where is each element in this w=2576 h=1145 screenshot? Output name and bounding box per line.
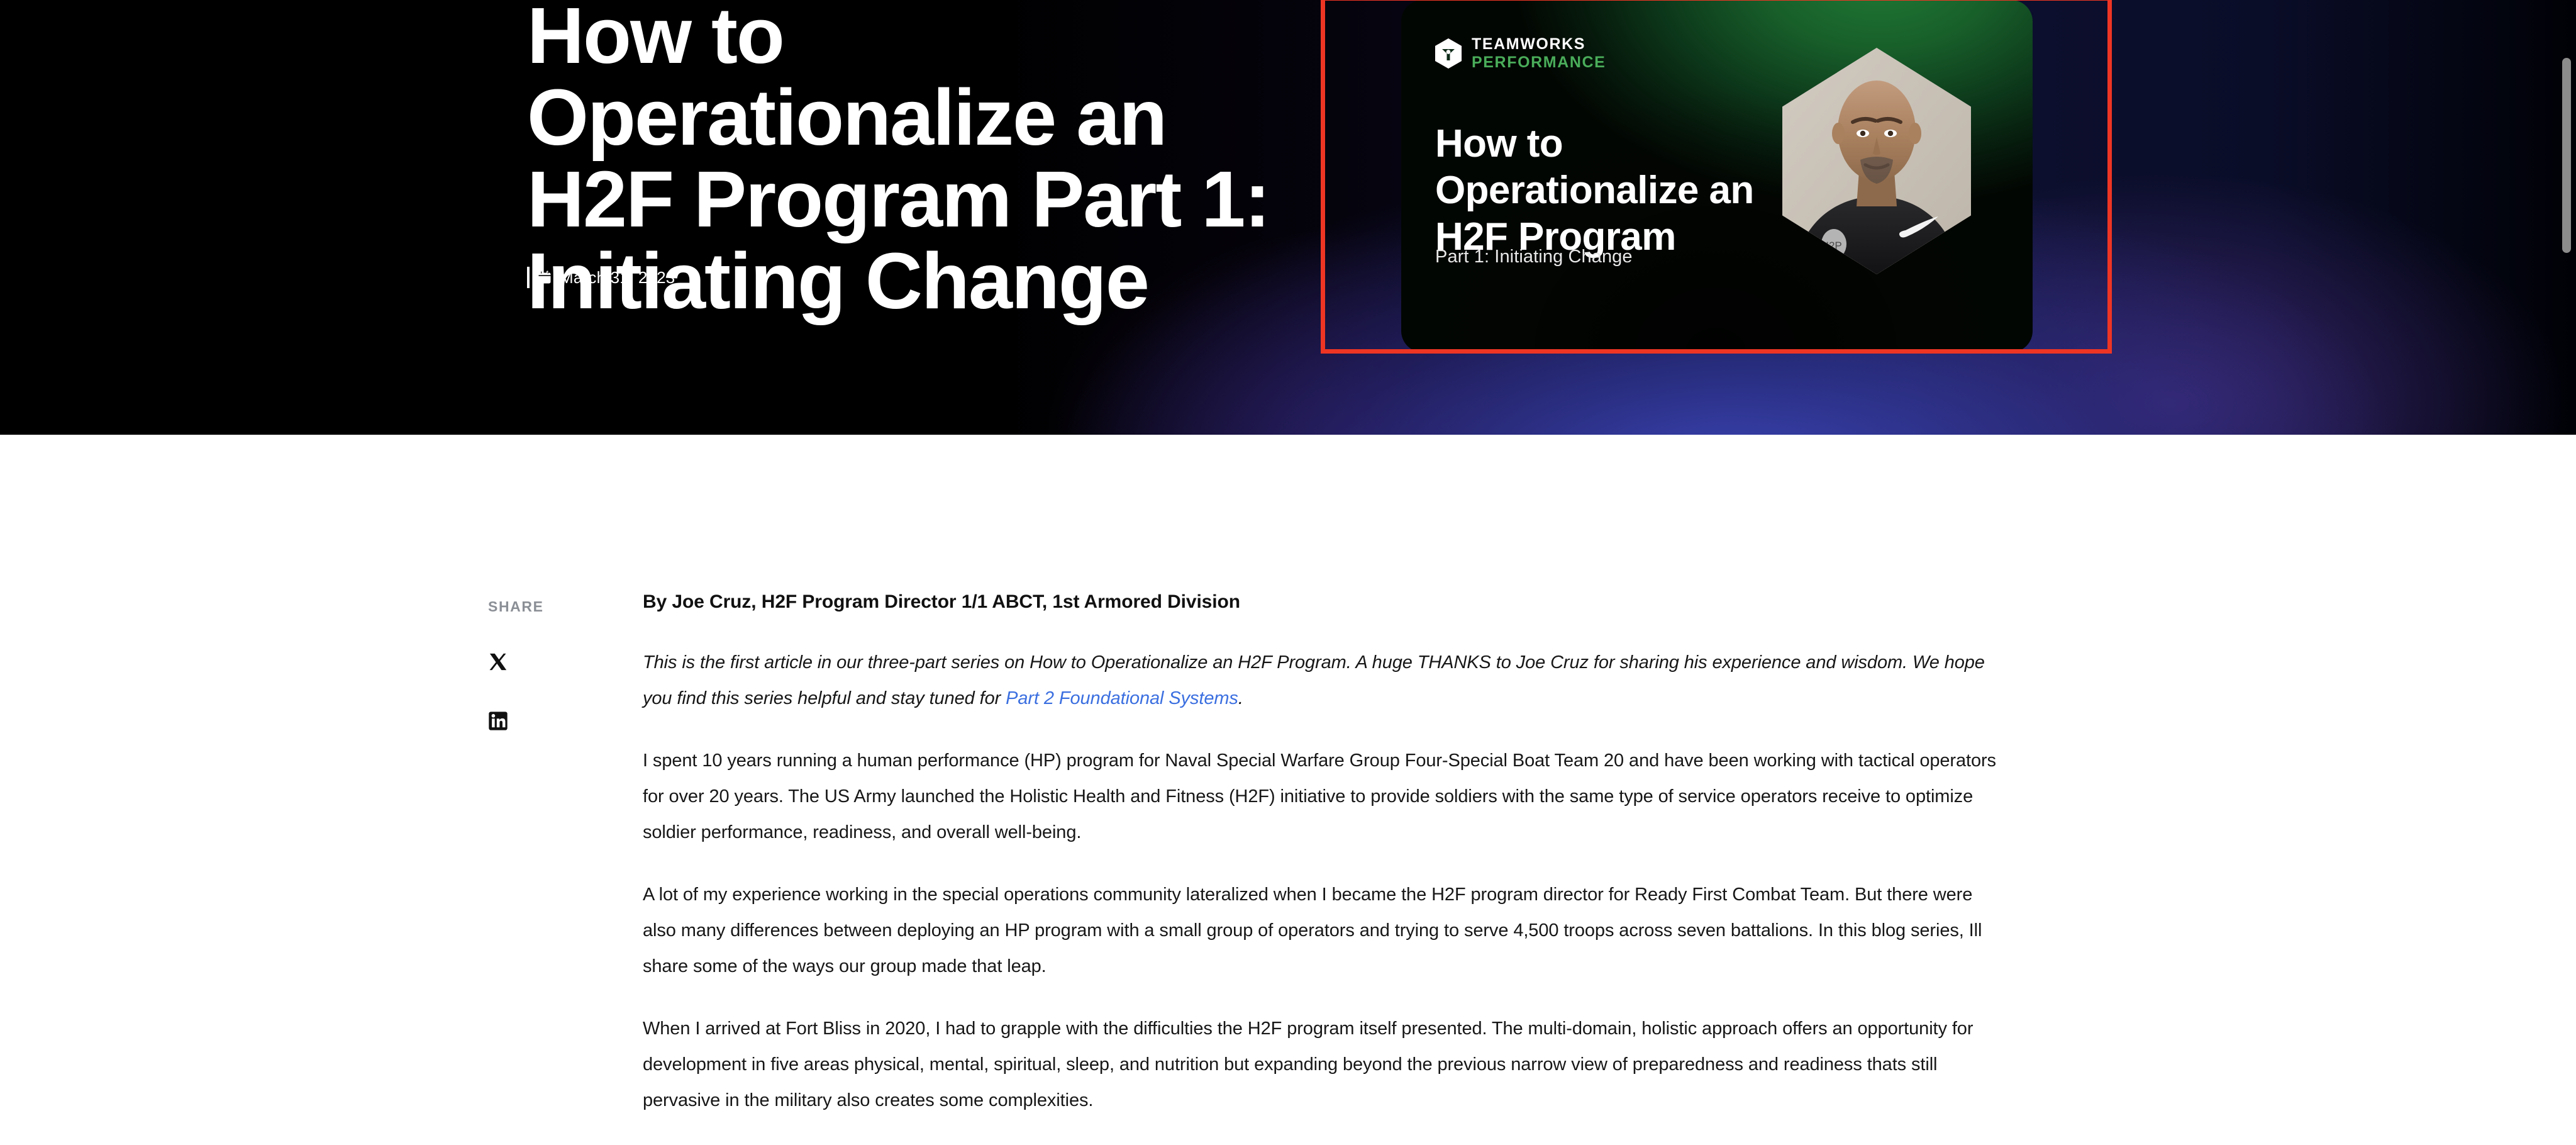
teamworks-logo: TEAMWORKS PERFORMANCE (1435, 36, 1606, 70)
x-twitter-icon[interactable] (488, 652, 508, 672)
share-label: SHARE (488, 598, 589, 615)
page-scrollbar[interactable] (2553, 0, 2576, 1119)
part-2-link[interactable]: Part 2 Foundational Systems (1006, 688, 1238, 708)
calendar-icon (537, 270, 552, 285)
logo-wordmark: TEAMWORKS PERFORMANCE (1472, 36, 1606, 70)
hero-feature-card: TEAMWORKS PERFORMANCE How to Operational… (1401, 0, 2033, 352)
hero-section: How to Operationalize an H2F Program Par… (0, 0, 2576, 435)
article-paragraph: When I arrived at Fort Bliss in 2020, I … (643, 1011, 2001, 1119)
publish-date: March 31, 2023 (560, 268, 675, 288)
article-byline: By Joe Cruz, H2F Program Director 1/1 AB… (643, 589, 2001, 615)
lede-text-after: . (1238, 688, 1243, 708)
scrollbar-thumb[interactable] (2562, 58, 2571, 253)
article-lede: This is the first article in our three-p… (643, 645, 2001, 717)
logo-word-teamworks: TEAMWORKS (1472, 36, 1606, 52)
share-icon-list (488, 652, 589, 731)
card-subtitle: Part 1: Initiating Change (1435, 247, 1633, 267)
teamworks-hexagon-logo-icon (1435, 38, 1462, 69)
lede-text-before: This is the first article in our three-p… (643, 652, 1985, 708)
hero-inner: How to Operationalize an H2F Program Par… (0, 0, 2576, 435)
portrait-photo: I2P (1782, 48, 1971, 274)
article-body: By Joe Cruz, H2F Program Director 1/1 AB… (643, 589, 2001, 1145)
article-paragraph: A lot of my experience working in the sp… (643, 877, 2001, 985)
article-section: SHARE By Joe Cruz, H2F Program Director … (0, 435, 2576, 1119)
publish-date-meta: March 31, 2023 (527, 267, 675, 288)
share-sidebar: SHARE (488, 598, 589, 731)
meta-accent-bar (527, 267, 530, 288)
card-title: How to Operationalize an H2F Program (1435, 121, 1787, 260)
logo-word-performance: PERFORMANCE (1472, 55, 1606, 70)
article-paragraph: I spent 10 years running a human perform… (643, 743, 2001, 851)
linkedin-icon[interactable] (488, 711, 508, 731)
svg-text:I2P: I2P (1826, 240, 1842, 252)
